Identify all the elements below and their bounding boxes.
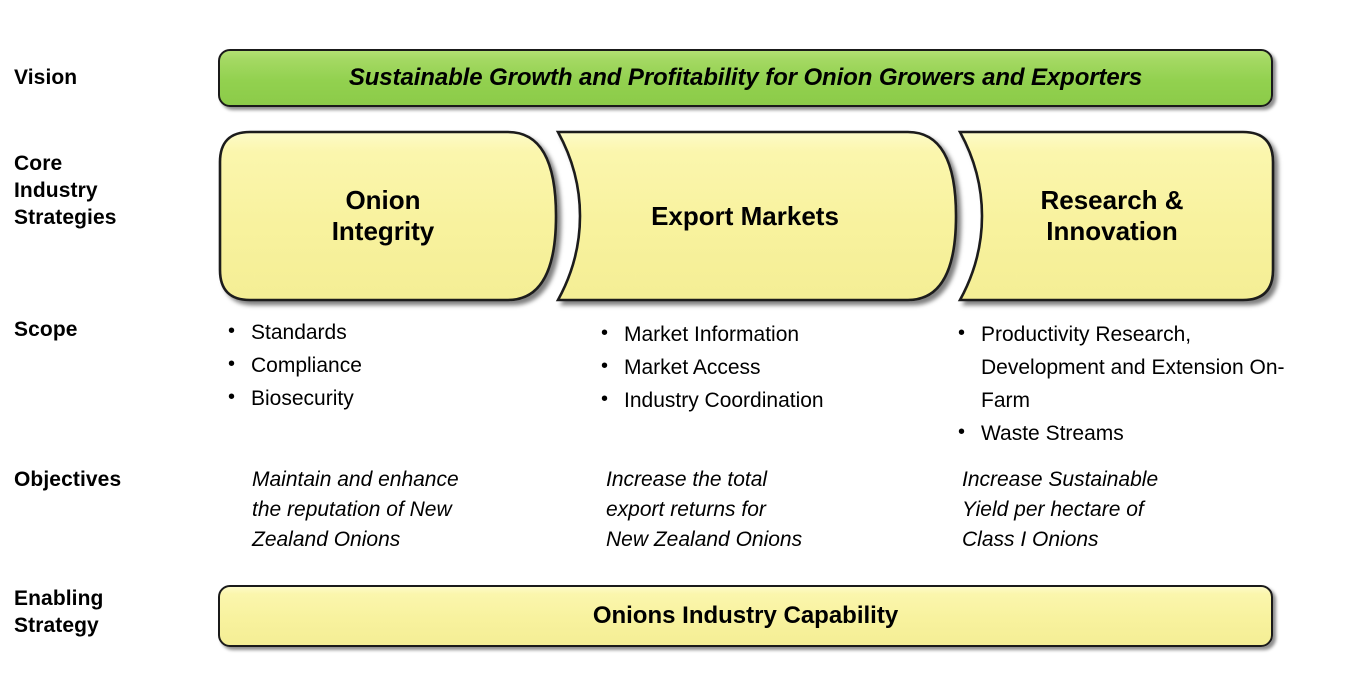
row-label-vision: Vision <box>14 64 77 91</box>
strategy-label-research-innovation: Research & Innovation <box>962 130 1262 302</box>
enabling-strategy-bar: Onions Industry Capability <box>218 585 1273 647</box>
scope-item: Productivity Research, Development and E… <box>955 318 1285 417</box>
scope-column-onion-integrity: Standards Compliance Biosecurity <box>225 316 525 415</box>
objective-research-innovation: Increase Sustainable Yield per hectare o… <box>962 465 1282 555</box>
scope-column-research-innovation: Productivity Research, Development and E… <box>955 318 1285 450</box>
row-label-enabling-strategy: Enabling Strategy <box>14 585 103 639</box>
enabling-strategy-text: Onions Industry Capability <box>593 602 898 630</box>
objective-onion-integrity: Maintain and enhance the reputation of N… <box>252 465 552 555</box>
vision-statement-text: Sustainable Growth and Profitability for… <box>349 64 1142 92</box>
scope-item: Waste Streams <box>955 417 1285 450</box>
strategy-label-onion-integrity: Onion Integrity <box>218 130 548 302</box>
strategy-label-export-markets: Export Markets <box>560 130 930 302</box>
scope-item: Market Access <box>598 351 928 384</box>
scope-item: Compliance <box>225 349 525 382</box>
core-strategies-row: Onion Integrity Export Markets <box>0 130 1363 302</box>
vision-banner: Sustainable Growth and Profitability for… <box>218 49 1273 107</box>
scope-item: Industry Coordination <box>598 384 928 417</box>
scope-item: Market Information <box>598 318 928 351</box>
scope-item: Standards <box>225 316 525 349</box>
scope-item: Biosecurity <box>225 382 525 415</box>
row-label-objectives: Objectives <box>14 466 121 493</box>
row-label-scope: Scope <box>14 316 78 343</box>
objective-export-markets: Increase the total export returns for Ne… <box>606 465 916 555</box>
scope-column-export-markets: Market Information Market Access Industr… <box>598 318 928 417</box>
